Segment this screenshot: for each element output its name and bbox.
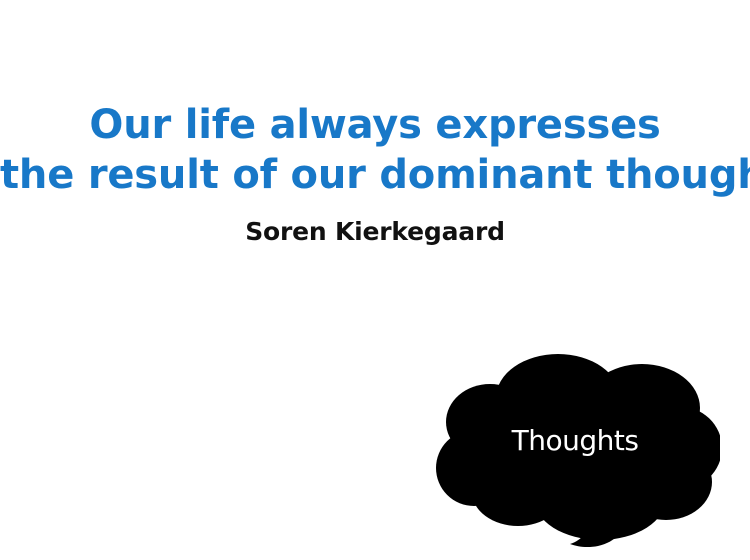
- thought-bubble-icon: [430, 350, 720, 560]
- thought-bubble: Thoughts: [430, 350, 720, 560]
- quote-line-2: the result of our dominant thoughts.: [0, 150, 750, 200]
- quote-slide: Our life always expresses the result of …: [0, 0, 750, 560]
- quote-text: Our life always expresses the result of …: [0, 100, 750, 200]
- quote-author: Soren Kierkegaard: [0, 216, 750, 248]
- quote-line-1: Our life always expresses: [0, 100, 750, 150]
